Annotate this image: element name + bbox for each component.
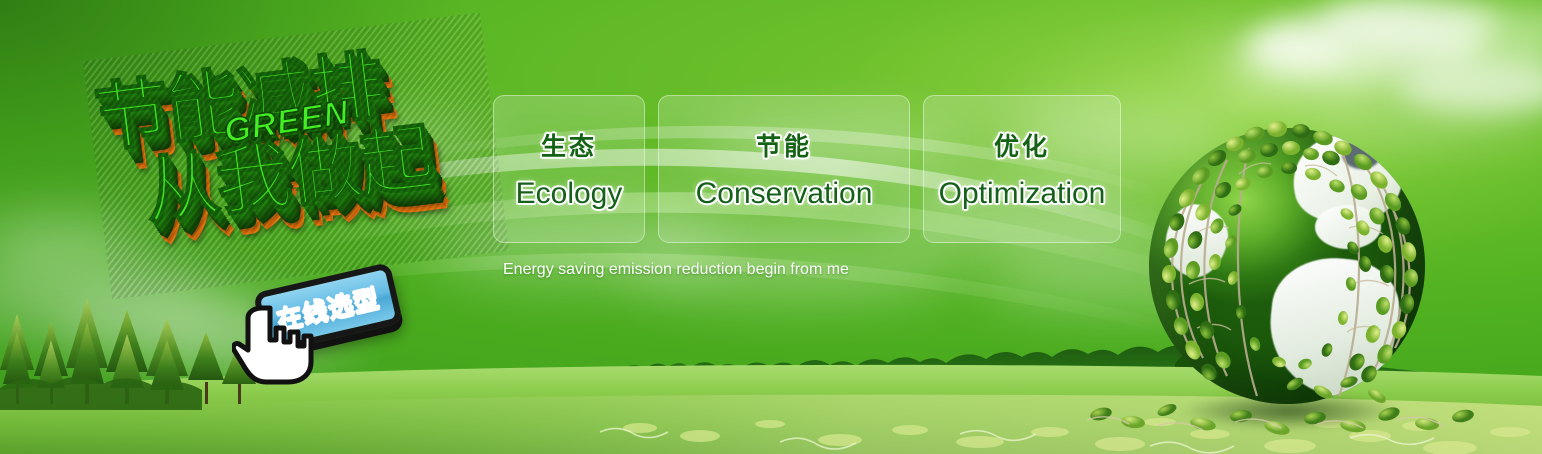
feature-card-optimization[interactable]: 优化 Optimization: [923, 95, 1121, 243]
feature-card-title-cn: 生态: [541, 127, 597, 163]
fallen-leaves: [1077, 374, 1497, 436]
pointing-hand-cursor-icon: [232, 300, 314, 386]
feature-card-title-en: Ecology: [516, 177, 623, 211]
continent-greenland: [1342, 139, 1381, 169]
feature-card-conservation[interactable]: 节能 Conservation: [658, 95, 910, 243]
continent-west-edge: [1159, 200, 1233, 283]
feature-card-title-en: Conservation: [696, 177, 873, 211]
eco-banner: 节能减排 GREEN 从我做起 生态 Ecology 节能 Conservati…: [0, 0, 1542, 454]
cloud-icon: [1240, 30, 1350, 70]
feature-card-ecology[interactable]: 生态 Ecology: [493, 95, 645, 243]
globe-sphere: [1149, 128, 1425, 404]
feature-card-title-en: Optimization: [939, 177, 1106, 211]
leafy-earth-globe-icon: [1137, 120, 1437, 430]
headline-3d: 节能减排 GREEN 从我做起: [83, 13, 509, 300]
feature-card-title-cn: 优化: [994, 127, 1050, 163]
continent-central-america: [1315, 205, 1381, 249]
feature-card-list: 生态 Ecology 节能 Conservation 优化 Optimizati…: [493, 95, 1121, 243]
tagline-text: Energy saving emission reduction begin f…: [503, 261, 849, 279]
feature-card-title-cn: 节能: [756, 127, 812, 163]
